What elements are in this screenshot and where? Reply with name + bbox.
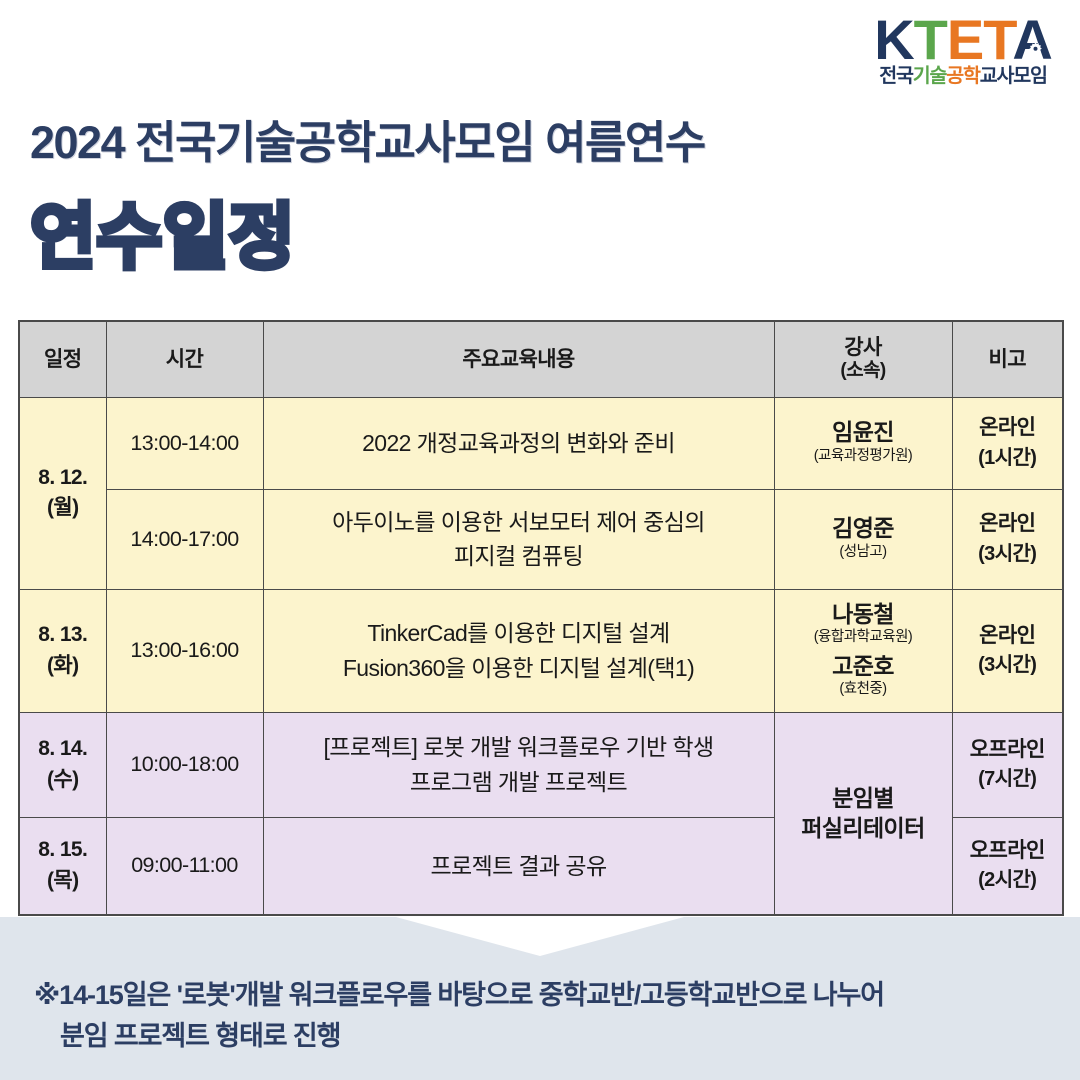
logo-wordmark: KTETA [874, 14, 1052, 66]
instructor-affiliation: (교육과정평가원) [779, 447, 948, 466]
cell-instructor: 김영준 (성남고) [774, 489, 952, 589]
table-body: 8. 12. (월) 13:00-14:00 2022 개정교육과정의 변화와 … [19, 397, 1063, 915]
cell-instructor: 나동철 (융합과학교육원) 고준호 (효천중) [774, 589, 952, 712]
day-value: (화) [24, 651, 102, 681]
footer-band: ※14-15일은 '로봇'개발 워크플로우를 바탕으로 중학교반/고등학교반으로… [0, 917, 1080, 1080]
day-value: (목) [24, 866, 102, 896]
cell-time: 13:00-16:00 [106, 589, 263, 712]
col-header-instructor: 강사 (소속) [774, 321, 952, 397]
footer-note: ※14-15일은 '로봇'개발 워크플로우를 바탕으로 중학교반/고등학교반으로… [34, 975, 1044, 1057]
cell-content: TinkerCad를 이용한 디지털 설계 Fusion360을 이용한 디지털… [263, 589, 774, 712]
page-title: 2024 전국기술공학교사모임 여름연수 [30, 106, 705, 171]
cell-time: 13:00-14:00 [106, 397, 263, 489]
note-mode: 온라인 [957, 509, 1059, 539]
table-row: 14:00-17:00 아두이노를 이용한 서보모터 제어 중심의 피지컬 컴퓨… [19, 489, 1063, 589]
content-line-1: 2022 개정교육과정의 변화와 준비 [268, 426, 770, 461]
cell-instructor-merged: 분임별 퍼실리테이터 [774, 712, 952, 915]
date-value: 8. 14. [24, 734, 102, 764]
col-header-content: 주요교육내용 [263, 321, 774, 397]
cell-date-0813: 8. 13. (화) [19, 589, 106, 712]
logo-letter-t1: T [914, 8, 947, 71]
note-duration: (7시간) [957, 765, 1059, 794]
cell-time: 09:00-11:00 [106, 817, 263, 915]
instructor-affiliation: (융합과학교육원) [779, 628, 948, 647]
day-value: (월) [24, 493, 102, 523]
instructor-affiliation-2: (효천중) [779, 680, 948, 699]
col-header-time: 시간 [106, 321, 263, 397]
note-mode: 오프라인 [957, 735, 1059, 765]
instructor-name-2: 고준호 [779, 651, 948, 681]
table-header: 일정 시간 주요교육내용 강사 (소속) 비고 [19, 321, 1063, 397]
instructor-name: 김영준 [779, 513, 948, 543]
instructor-name: 나동철 [779, 599, 948, 629]
cell-content: [프로젝트] 로봇 개발 워크플로우 기반 학생 프로그램 개발 프로젝트 [263, 712, 774, 817]
cell-date-0815: 8. 15. (목) [19, 817, 106, 915]
note-duration: (3시간) [957, 651, 1059, 680]
col-header-instructor-sub: (소속) [779, 360, 948, 383]
day-value: (수) [24, 765, 102, 795]
chevron-down-notch-icon [396, 917, 684, 956]
logo-letter-a: A [1012, 8, 1051, 71]
note-duration: (2시간) [957, 866, 1059, 895]
content-line-2: Fusion360을 이용한 디지털 설계(택1) [268, 651, 770, 686]
page-subtitle: 연수일정 [30, 178, 295, 283]
footer-note-line-1: ※14-15일은 '로봇'개발 워크플로우를 바탕으로 중학교반/고등학교반으로… [34, 980, 884, 1010]
instructor-name: 임윤진 [779, 417, 948, 447]
date-value: 8. 12. [24, 463, 102, 493]
note-mode: 온라인 [957, 413, 1059, 443]
table-row: 8. 12. (월) 13:00-14:00 2022 개정교육과정의 변화와 … [19, 397, 1063, 489]
col-header-date: 일정 [19, 321, 106, 397]
content-line-2: 피지컬 컴퓨팅 [268, 539, 770, 574]
facilitator-line-2: 퍼실리테이터 [779, 813, 948, 843]
cell-note: 온라인 (1시간) [952, 397, 1063, 489]
col-header-note: 비고 [952, 321, 1063, 397]
col-header-instructor-main: 강사 [844, 336, 881, 359]
cell-note: 온라인 (3시간) [952, 489, 1063, 589]
kteta-logo: KTETA 전국기술공학교사모임 [860, 14, 1066, 100]
footer-note-line-2: 분임 프로젝트 형태로 진행 [34, 1016, 1044, 1057]
date-value: 8. 15. [24, 835, 102, 865]
cell-note: 오프라인 (2시간) [952, 817, 1063, 915]
schedule-table: 일정 시간 주요교육내용 강사 (소속) 비고 8. 12. (월) 13:00… [18, 320, 1064, 916]
content-line-1: 아두이노를 이용한 서보모터 제어 중심의 [268, 505, 770, 540]
cell-time: 14:00-17:00 [106, 489, 263, 589]
cell-time: 10:00-18:00 [106, 712, 263, 817]
instructor-affiliation: (성남고) [779, 543, 948, 562]
cell-date-0812: 8. 12. (월) [19, 397, 106, 589]
cell-note: 온라인 (3시간) [952, 589, 1063, 712]
content-line-1: 프로젝트 결과 공유 [268, 849, 770, 884]
logo-letter-e: E [947, 8, 983, 71]
cell-content: 아두이노를 이용한 서보모터 제어 중심의 피지컬 컴퓨팅 [263, 489, 774, 589]
logo-letter-k: K [874, 8, 913, 71]
content-line-2: 프로그램 개발 프로젝트 [268, 765, 770, 800]
note-mode: 온라인 [957, 621, 1059, 651]
gear-icon [1026, 41, 1045, 60]
cell-note: 오프라인 (7시간) [952, 712, 1063, 817]
cell-date-0814: 8. 14. (수) [19, 712, 106, 817]
cell-content: 2022 개정교육과정의 변화와 준비 [263, 397, 774, 489]
table-row: 8. 13. (화) 13:00-16:00 TinkerCad를 이용한 디지… [19, 589, 1063, 712]
content-line-1: [프로젝트] 로봇 개발 워크플로우 기반 학생 [268, 730, 770, 765]
table-row: 8. 14. (수) 10:00-18:00 [프로젝트] 로봇 개발 워크플로… [19, 712, 1063, 817]
facilitator-line-1: 분임별 [779, 783, 948, 813]
date-value: 8. 13. [24, 620, 102, 650]
cell-instructor: 임윤진 (교육과정평가원) [774, 397, 952, 489]
poster-canvas: KTETA 전국기술공학교사모임 2024 전국기술공학교사모임 여름연수 연수… [0, 0, 1080, 1080]
note-duration: (1시간) [957, 444, 1059, 473]
table-header-row: 일정 시간 주요교육내용 강사 (소속) 비고 [19, 321, 1063, 397]
note-duration: (3시간) [957, 540, 1059, 569]
content-line-1: TinkerCad를 이용한 디지털 설계 [268, 616, 770, 651]
note-mode: 오프라인 [957, 836, 1059, 866]
logo-letter-t2: T [983, 8, 1012, 71]
cell-content: 프로젝트 결과 공유 [263, 817, 774, 915]
